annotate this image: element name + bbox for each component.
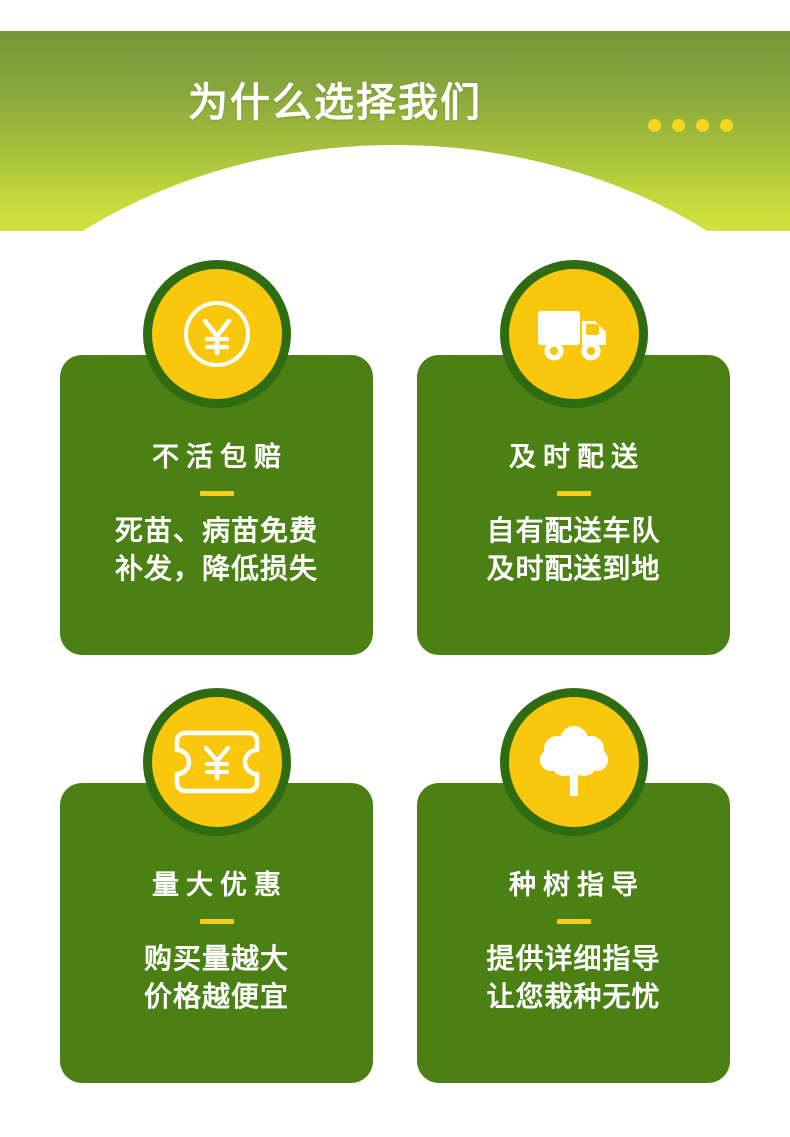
page-title: 为什么选择我们 bbox=[0, 83, 790, 123]
yen-coin-icon bbox=[152, 269, 282, 399]
dot-icon bbox=[696, 119, 709, 132]
icon-ring bbox=[500, 260, 648, 408]
feature-card-grid: 不活包赔 死苗、病苗免费 补发，降低损失 bbox=[0, 260, 790, 1116]
dot-icon bbox=[720, 119, 733, 132]
icon-ring bbox=[143, 688, 291, 836]
yen-coupon-icon bbox=[152, 697, 282, 827]
dot-icon bbox=[672, 119, 685, 132]
card-row: 量大优惠 购买量越大 价格越便宜 bbox=[0, 688, 790, 1116]
promo-page: 为什么选择我们 bbox=[0, 0, 790, 1137]
icon-ring bbox=[143, 260, 291, 408]
card-row: 不活包赔 死苗、病苗免费 补发，降低损失 bbox=[0, 260, 790, 688]
dot-icon bbox=[648, 119, 661, 132]
tree-icon bbox=[509, 697, 639, 827]
icon-ring bbox=[500, 688, 648, 836]
banner-dots bbox=[648, 119, 733, 132]
header-banner: 为什么选择我们 bbox=[0, 31, 790, 231]
delivery-truck-icon bbox=[509, 269, 639, 399]
